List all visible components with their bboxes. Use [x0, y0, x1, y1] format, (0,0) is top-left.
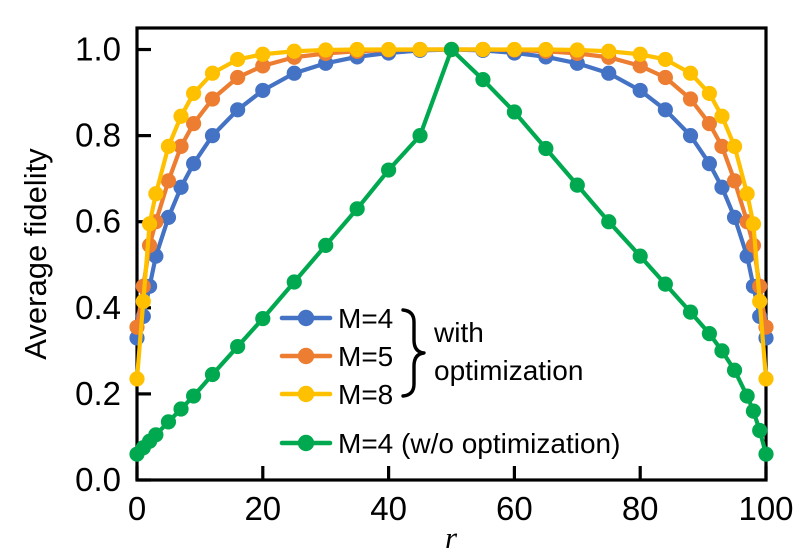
x-tick-label: 20: [244, 490, 281, 527]
brace-annotation-line1: with: [433, 317, 484, 348]
data-point-marker: [633, 83, 648, 98]
data-point-marker: [538, 141, 553, 156]
x-tick-label: 100: [738, 490, 793, 527]
data-point-marker: [740, 186, 755, 201]
y-tick-label: 0.8: [75, 117, 121, 154]
legend-marker-swatch: [298, 310, 314, 326]
data-point-marker: [230, 339, 245, 354]
legend-marker-swatch: [298, 435, 314, 451]
data-point-marker: [746, 216, 761, 231]
data-point-marker: [173, 401, 188, 416]
data-point-marker: [161, 173, 176, 188]
data-point-marker: [136, 294, 151, 309]
data-point-marker: [205, 367, 220, 382]
data-point-marker: [350, 42, 365, 57]
data-point-marker: [570, 178, 585, 193]
data-point-marker: [702, 86, 717, 101]
data-point-marker: [412, 42, 427, 57]
data-point-marker: [658, 277, 673, 292]
data-point-marker: [658, 102, 673, 117]
data-point-marker: [444, 42, 459, 57]
data-point-marker: [287, 274, 302, 289]
data-point-marker: [148, 427, 163, 442]
y-tick-label: 0.4: [75, 289, 121, 326]
data-point-marker: [381, 42, 396, 57]
average-fidelity-line-chart: 0.00.20.40.60.81.0 020406080100 Average …: [0, 0, 795, 552]
legend-label: M=4: [338, 303, 393, 334]
data-point-marker: [475, 72, 490, 87]
data-point-marker: [740, 388, 755, 403]
y-tick-label: 0.0: [75, 461, 121, 498]
x-tick-label: 0: [128, 490, 146, 527]
data-point-marker: [318, 238, 333, 253]
data-point-marker: [173, 109, 188, 124]
data-point-marker: [205, 66, 220, 81]
data-point-marker: [658, 52, 673, 67]
data-point-marker: [129, 371, 144, 386]
data-point-marker: [186, 388, 201, 403]
data-point-marker: [507, 42, 522, 57]
data-point-marker: [318, 42, 333, 57]
x-tick-label: 60: [496, 490, 533, 527]
data-point-marker: [186, 86, 201, 101]
data-point-marker: [727, 139, 742, 154]
data-point-marker: [255, 47, 270, 62]
data-point-marker: [658, 70, 673, 85]
data-point-marker: [752, 423, 767, 438]
data-point-marker: [161, 414, 176, 429]
data-point-marker: [570, 42, 585, 57]
data-point-marker: [475, 42, 490, 57]
data-point-marker: [381, 162, 396, 177]
legend-marker-swatch: [298, 386, 314, 402]
data-point-marker: [601, 214, 616, 229]
x-axis-title: r: [445, 520, 458, 552]
data-point-marker: [142, 216, 157, 231]
y-tick-label: 0.6: [75, 203, 121, 240]
data-point-marker: [727, 173, 742, 188]
data-point-marker: [758, 371, 773, 386]
data-point-marker: [350, 201, 365, 216]
data-point-marker: [287, 44, 302, 59]
data-point-marker: [683, 66, 698, 81]
data-point-marker: [633, 47, 648, 62]
data-point-marker: [683, 305, 698, 320]
data-point-marker: [148, 186, 163, 201]
data-point-marker: [702, 326, 717, 341]
legend-label: M=5: [338, 341, 393, 372]
data-point-marker: [161, 139, 176, 154]
data-point-marker: [601, 44, 616, 59]
data-point-marker: [205, 91, 220, 106]
data-point-marker: [758, 447, 773, 462]
data-point-marker: [507, 104, 522, 119]
y-axis-title: Average fidelity: [18, 148, 53, 360]
data-point-marker: [683, 91, 698, 106]
data-point-marker: [714, 343, 729, 358]
data-point-marker: [633, 249, 648, 264]
data-point-marker: [702, 156, 717, 171]
data-point-marker: [601, 66, 616, 81]
data-point-marker: [230, 52, 245, 67]
data-point-marker: [186, 156, 201, 171]
data-point-marker: [683, 128, 698, 143]
data-point-marker: [746, 404, 761, 419]
data-point-marker: [714, 109, 729, 124]
data-point-marker: [287, 66, 302, 81]
data-point-marker: [230, 102, 245, 117]
data-point-marker: [205, 128, 220, 143]
y-tick-label: 0.2: [75, 375, 121, 412]
brace-annotation-line2: optimization: [434, 355, 583, 386]
legend-marker-swatch: [298, 348, 314, 364]
data-point-marker: [230, 70, 245, 85]
data-point-marker: [412, 128, 427, 143]
data-point-marker: [727, 363, 742, 378]
x-tick-label: 40: [370, 490, 407, 527]
x-tick-label: 80: [622, 490, 659, 527]
legend-label: M=4 (w/o optimization): [338, 428, 620, 459]
data-point-marker: [255, 83, 270, 98]
y-tick-label: 1.0: [75, 31, 121, 68]
data-point-marker: [538, 42, 553, 57]
data-point-marker: [752, 294, 767, 309]
data-point-marker: [255, 311, 270, 326]
legend-label: M=8: [338, 379, 393, 410]
